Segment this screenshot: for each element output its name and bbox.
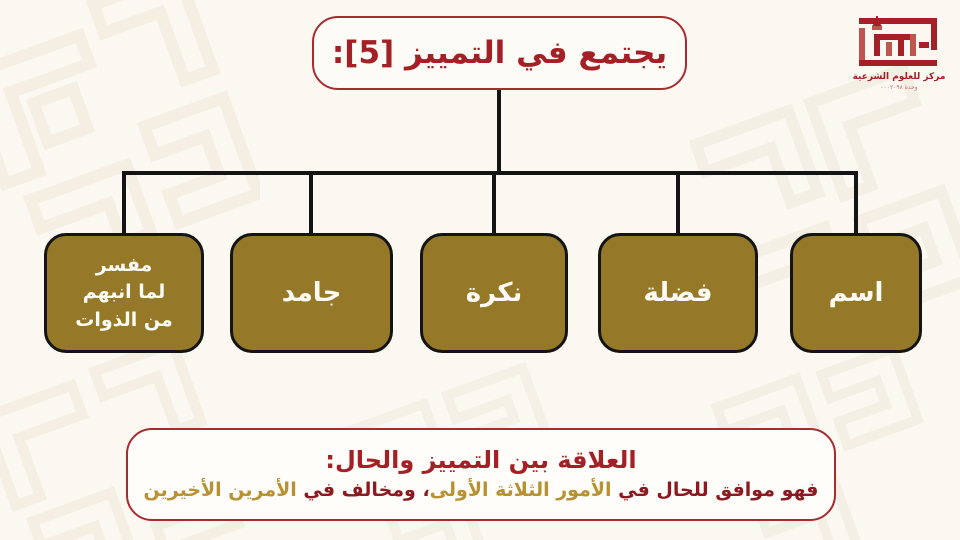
title-box: يجتمع في التمييز [5]: [312, 16, 687, 90]
bottom-body-segment-0: فهو موافق للحال في [612, 479, 819, 501]
bottom-note-panel: العلاقة بين التمييز والحال: فهو موافق لل… [126, 428, 836, 521]
node-label: مفسر لما انبهم من الذوات [69, 252, 179, 335]
node-box-mufassir[interactable]: مفسر لما انبهم من الذوات [44, 233, 204, 353]
node-label: نكرة [460, 276, 528, 310]
logo-subtitle: مركز للعلوم الشرعية [853, 72, 946, 82]
bottom-panel-body: فهو موافق للحال في الأمور الثلاثة الأولى… [144, 480, 819, 502]
bottom-body-segment-2: ، ومخالف في [297, 479, 430, 501]
node-box-jamid[interactable]: جامد [230, 233, 393, 353]
page-title: يجتمع في التمييز [5]: [332, 38, 667, 69]
node-box-nakira[interactable]: نكرة [420, 233, 568, 353]
bottom-body-segment-1: الأمور الثلاثة الأولى [430, 479, 612, 501]
node-label: فضلة [637, 276, 718, 310]
logo: مركز للعلوم الشرعية وحدة ٠٠٠٢٠٩٨ [850, 12, 948, 94]
bottom-panel-heading: العلاقة بين التمييز والحال: [325, 447, 636, 473]
node-box-fadla[interactable]: فضلة [598, 233, 758, 353]
logo-tagline: وحدة ٠٠٠٢٠٩٨ [880, 84, 917, 91]
bottom-body-segment-3: الأمرين الأخيرين [144, 479, 297, 501]
ihkam-logo-mark-icon: مركز للعلوم الشرعية وحدة ٠٠٠٢٠٩٨ [850, 12, 948, 94]
node-label: جامد [276, 276, 348, 310]
kufic-watermark-icon [0, 0, 260, 270]
node-box-ism[interactable]: اسم [790, 233, 922, 353]
slide-canvas: مركز للعلوم الشرعية وحدة ٠٠٠٢٠٩٨ يجتمع ف… [0, 0, 960, 540]
node-label: اسم [823, 276, 890, 310]
